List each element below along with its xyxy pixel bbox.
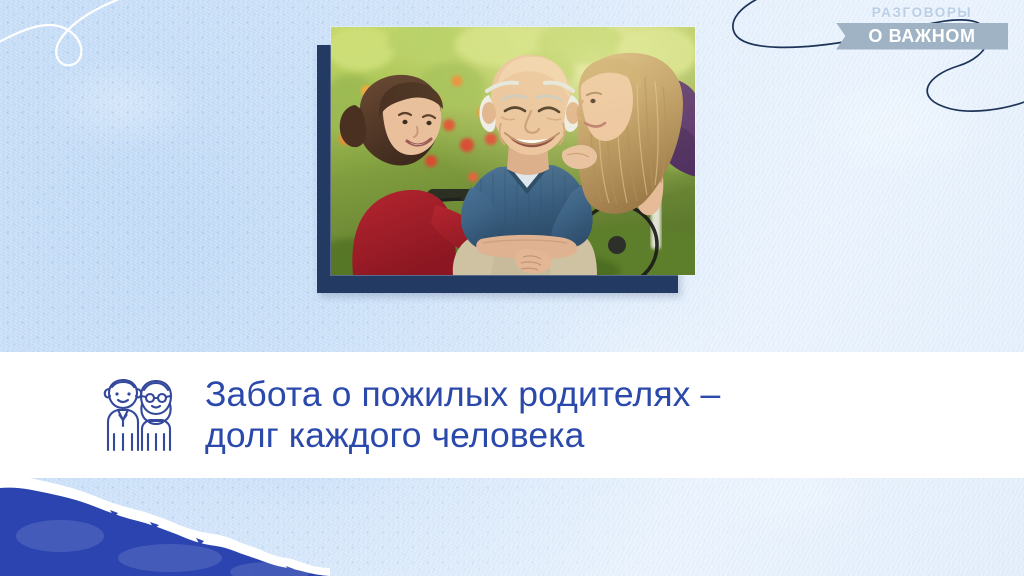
elderly-couple-icon <box>95 374 181 456</box>
logo-ribbon: О ВАЖНОМ <box>836 23 1008 50</box>
razgovory-o-vazhnom-logo: РАЗГОВОРЫ О ВАЖНОМ <box>836 6 1008 50</box>
torn-paper-corner <box>0 476 330 576</box>
logo-top-text: РАЗГОВОРЫ <box>836 6 1008 20</box>
logo-bottom-text: О ВАЖНОМ <box>868 27 975 45</box>
photo-elderly-family-garden <box>331 27 695 275</box>
title-band: Забота о пожилых родителях – долг каждог… <box>0 352 1024 478</box>
white-squiggle-decoration <box>0 0 198 124</box>
slide-canvas: РАЗГОВОРЫ О ВАЖНОМ <box>0 0 1024 576</box>
page-title: Забота о пожилых родителях – долг каждог… <box>205 374 720 456</box>
photo-block <box>317 27 695 293</box>
